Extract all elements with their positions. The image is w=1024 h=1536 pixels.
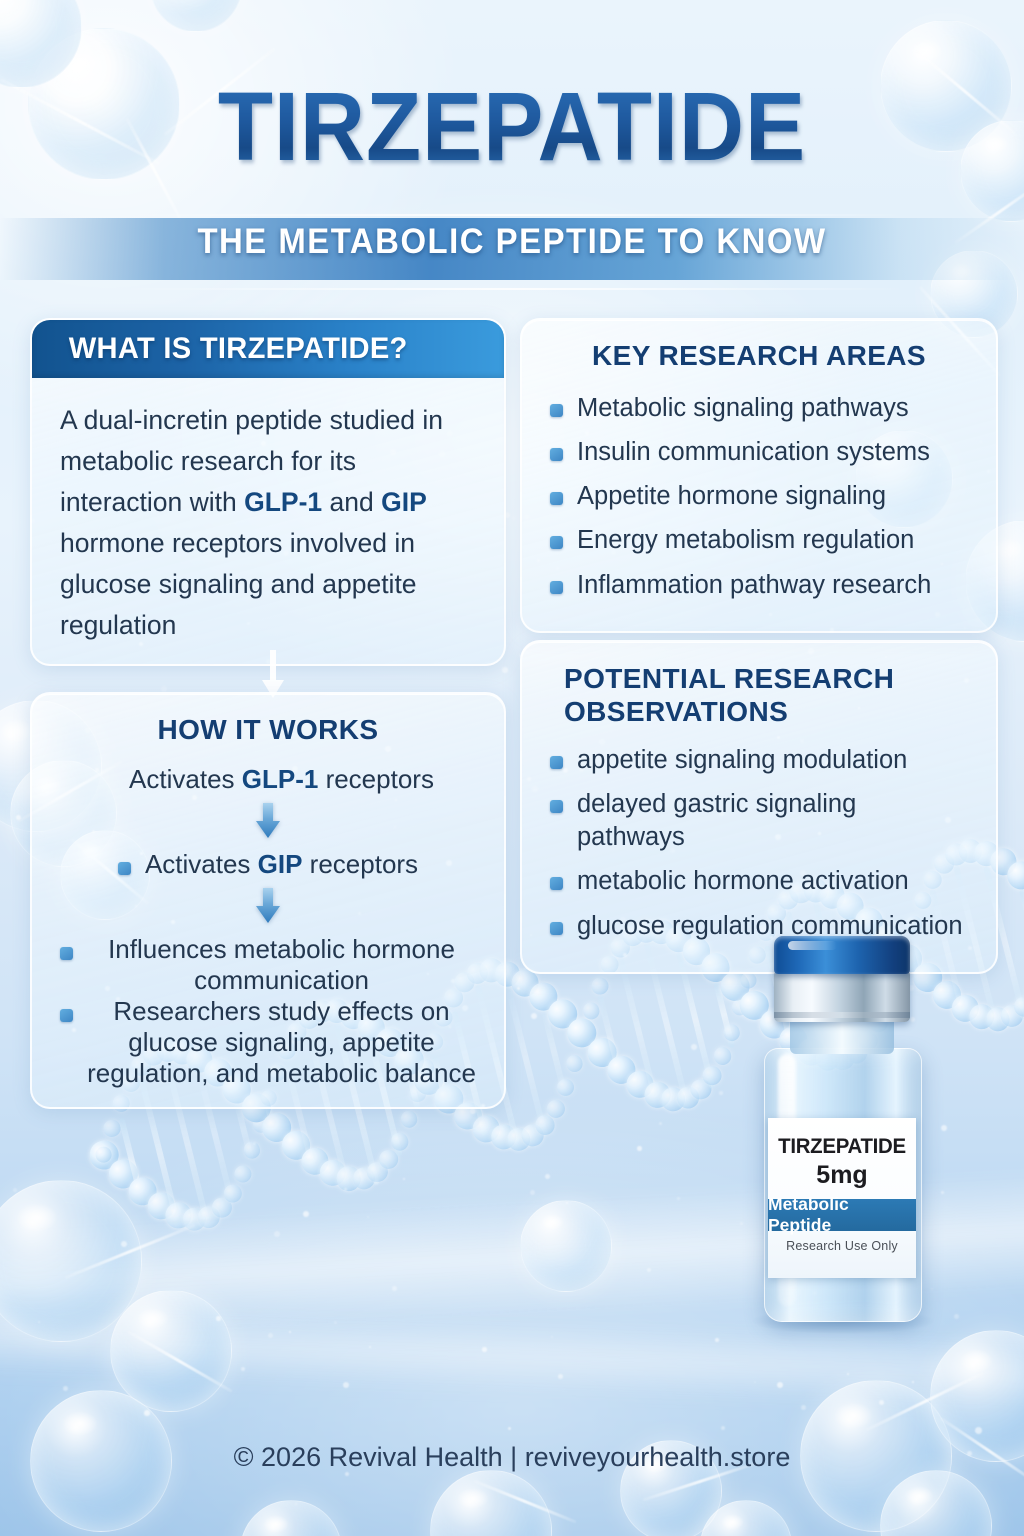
poster-header: TIRZEPATIDE xyxy=(0,0,1024,175)
vial-neck xyxy=(790,1020,894,1054)
bokeh-speck xyxy=(975,1427,982,1434)
header-divider-top xyxy=(118,214,908,216)
bullet-square-icon xyxy=(550,581,563,594)
list-item: Insulin communication systems xyxy=(550,436,968,469)
molecule-sphere-icon xyxy=(110,1290,232,1412)
list-item-label: Inflammation pathway research xyxy=(577,569,931,602)
how-it-works-step: Activates GIP receptors xyxy=(60,849,476,880)
card-title: POTENTIAL RESEARCH OBSERVATIONS xyxy=(550,662,968,728)
vial-dose: 5mg xyxy=(768,1161,916,1190)
bokeh-speck xyxy=(659,1122,662,1125)
card-header-bar: WHAT IS TIRZEPATIDE? xyxy=(32,320,504,378)
list-item: delayed gastric signaling pathways xyxy=(550,788,968,854)
list-item: appetite signaling modulation xyxy=(550,744,968,777)
bokeh-speck xyxy=(392,1286,397,1291)
step-label: Activates GLP-1 receptors xyxy=(129,764,434,795)
vial-band-text: Metabolic Peptide xyxy=(768,1194,916,1236)
list-item-label: Appetite hormone signaling xyxy=(577,480,886,513)
vial-crimp-seal xyxy=(774,970,910,1022)
bokeh-speck xyxy=(367,1216,369,1218)
what-is-paragraph: A dual-incretin peptide studied in metab… xyxy=(60,400,476,646)
vial-label: TIRZEPATIDE 5mg Metabolic Peptide Resear… xyxy=(768,1118,916,1278)
bokeh-speck xyxy=(954,1314,959,1319)
page-title: TIRZEPATIDE xyxy=(36,78,988,175)
bokeh-speck xyxy=(482,1347,487,1352)
card-body: HOW IT WORKS Activates GLP-1 receptorsAc… xyxy=(32,694,504,1107)
bullet-square-icon xyxy=(60,1009,73,1022)
list-item: metabolic hormone activation xyxy=(550,865,968,898)
card-body: KEY RESEARCH AREAS Metabolic signaling p… xyxy=(522,320,996,631)
bokeh-speck xyxy=(647,1268,651,1272)
bullet-square-icon xyxy=(60,947,73,960)
bokeh-speck xyxy=(879,1400,884,1405)
vial-label-band: Metabolic Peptide xyxy=(768,1199,916,1231)
bokeh-speck xyxy=(719,1091,723,1095)
bokeh-speck xyxy=(216,1316,221,1321)
step-arrow-down-icon xyxy=(60,801,476,841)
bokeh-speck xyxy=(241,1367,245,1371)
observations-list: appetite signaling modulationdelayed gas… xyxy=(550,744,968,943)
step-arrow-down-icon xyxy=(60,886,476,926)
bokeh-speck xyxy=(274,1231,280,1237)
step-label: Activates GIP receptors xyxy=(145,849,418,880)
bullet-square-icon xyxy=(550,800,563,813)
bullet-square-icon xyxy=(118,862,131,875)
bokeh-speck xyxy=(16,815,21,820)
list-item-label: delayed gastric signaling pathways xyxy=(577,788,968,854)
bokeh-speck xyxy=(912,1381,914,1383)
card-body: POTENTIAL RESEARCH OBSERVATIONS appetite… xyxy=(522,642,996,972)
card-body: A dual-incretin peptide studied in metab… xyxy=(32,378,504,664)
how-it-works-steps: Activates GLP-1 receptorsActivates GIP r… xyxy=(60,764,476,1089)
bullet-square-icon xyxy=(550,492,563,505)
list-item: Energy metabolism regulation xyxy=(550,524,968,557)
bokeh-speck xyxy=(38,1321,40,1323)
card-what-is-tirzepatide: WHAT IS TIRZEPATIDE? A dual-incretin pep… xyxy=(30,318,506,666)
bokeh-speck xyxy=(502,667,508,673)
how-it-works-step: Researchers study effects on glucose sig… xyxy=(60,996,476,1089)
bokeh-speck xyxy=(715,1338,719,1342)
bokeh-speck xyxy=(801,1405,806,1410)
key-research-list: Metabolic signaling pathwaysInsulin comm… xyxy=(550,392,968,602)
list-item-label: Insulin communication systems xyxy=(577,436,930,469)
vial-product-name: TIRZEPATIDE xyxy=(772,1134,913,1159)
bullet-square-icon xyxy=(550,756,563,769)
bokeh-speck xyxy=(334,1321,337,1324)
bullet-square-icon xyxy=(550,404,563,417)
card-key-research-areas: KEY RESEARCH AREAS Metabolic signaling p… xyxy=(520,318,998,633)
bokeh-speck xyxy=(512,516,516,520)
bokeh-speck xyxy=(303,1211,309,1217)
how-it-works-step: Activates GLP-1 receptors xyxy=(60,764,476,795)
list-item: Appetite hormone signaling xyxy=(550,480,968,513)
step-label: Influences metabolic hormone communicati… xyxy=(87,934,476,996)
molecule-sphere-icon xyxy=(520,1200,612,1292)
bokeh-speck xyxy=(558,1374,563,1379)
bokeh-speck xyxy=(508,1427,511,1430)
list-item-label: Energy metabolism regulation xyxy=(577,524,914,557)
header-divider-bottom xyxy=(118,288,908,290)
bokeh-speck xyxy=(637,1146,642,1151)
step-label: Researchers study effects on glucose sig… xyxy=(87,996,476,1089)
how-it-works-step: Influences metabolic hormone communicati… xyxy=(60,934,476,996)
card-potential-research-observations: POTENTIAL RESEARCH OBSERVATIONS appetite… xyxy=(520,640,998,974)
bullet-square-icon xyxy=(550,877,563,890)
list-item: Inflammation pathway research xyxy=(550,569,968,602)
vial-disclaimer: Research Use Only xyxy=(768,1239,916,1253)
dna-bead xyxy=(590,976,610,996)
card-title: KEY RESEARCH AREAS xyxy=(550,340,968,372)
dna-bead xyxy=(565,1054,585,1074)
bokeh-speck xyxy=(161,686,167,692)
card-title: WHAT IS TIRZEPATIDE? xyxy=(38,332,408,366)
card-how-it-works: HOW IT WORKS Activates GLP-1 receptorsAc… xyxy=(30,692,506,1109)
bokeh-speck xyxy=(517,987,520,990)
bokeh-speck xyxy=(344,1188,347,1191)
bokeh-speck xyxy=(343,1382,349,1388)
list-item: Metabolic signaling pathways xyxy=(550,392,968,425)
bullet-square-icon xyxy=(550,536,563,549)
product-vial-image: TIRZEPATIDE 5mg Metabolic Peptide Resear… xyxy=(742,936,942,1336)
bokeh-speck xyxy=(566,1202,568,1204)
card-title: HOW IT WORKS xyxy=(60,714,476,746)
dna-bead xyxy=(722,1023,742,1043)
bullet-square-icon xyxy=(550,922,563,935)
bokeh-speck xyxy=(677,1197,680,1200)
bullet-square-icon xyxy=(550,448,563,461)
list-item-label: appetite signaling modulation xyxy=(577,744,907,777)
dna-rung xyxy=(1019,889,1024,985)
page-subtitle: THE METABOLIC PEPTIDE TO KNOW xyxy=(31,222,994,262)
bokeh-speck xyxy=(144,1410,150,1416)
bokeh-speck xyxy=(545,1174,550,1179)
footer-credit: © 2026 Revival Health | reviveyourhealth… xyxy=(0,1442,1024,1473)
dna-bead xyxy=(712,1045,733,1066)
bokeh-speck xyxy=(531,1013,537,1019)
list-item-label: Metabolic signaling pathways xyxy=(577,392,909,425)
list-item-label: metabolic hormone activation xyxy=(577,865,909,898)
vial-cap xyxy=(774,936,910,974)
